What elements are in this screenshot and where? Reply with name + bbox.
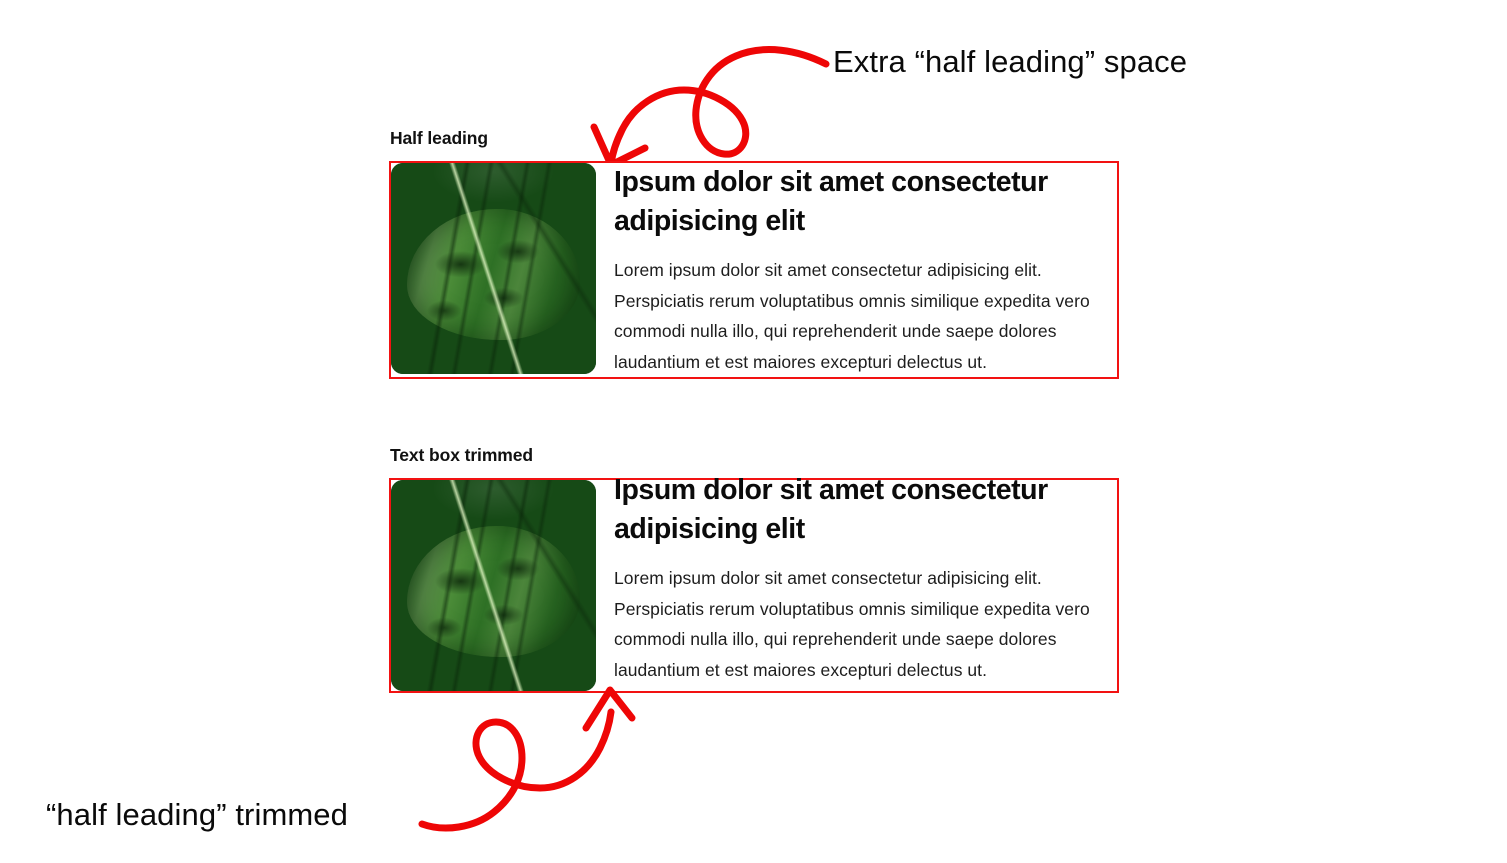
card-heading-text-box-trimmed: Ipsum dolor sit amet consectetur adipisi… — [614, 471, 1117, 549]
monstera-leaves-photo — [391, 480, 596, 691]
card-heading-half-leading: Ipsum dolor sit amet consectetur adipisi… — [614, 163, 1117, 241]
card-paragraph-text-box-trimmed: Lorem ipsum dolor sit amet consectetur a… — [614, 563, 1117, 685]
section-text-box-trimmed: Text box trimmed Ipsum dolor sit amet co… — [389, 444, 1119, 693]
card-paragraph-half-leading: Lorem ipsum dolor sit amet consectetur a… — [614, 255, 1117, 377]
card-half-leading: Ipsum dolor sit amet consectetur adipisi… — [389, 161, 1119, 379]
section-label-half-leading: Half leading — [390, 127, 1119, 149]
canvas: Extra “half leading” space Half leading … — [0, 0, 1507, 863]
card-text-half-leading: Ipsum dolor sit amet consectetur adipisi… — [596, 163, 1117, 377]
card-image-half-leading — [391, 163, 596, 374]
annotation-extra-half-leading-label: Extra “half leading” space — [833, 43, 1187, 82]
card-text-text-box-trimmed: Ipsum dolor sit amet consectetur adipisi… — [596, 471, 1117, 703]
card-image-text-box-trimmed — [391, 480, 596, 691]
section-half-leading: Half leading Ipsum dolor sit amet consec… — [389, 127, 1119, 379]
monstera-leaves-photo — [391, 163, 596, 374]
section-label-text-box-trimmed: Text box trimmed — [390, 444, 1119, 466]
annotation-half-leading-trimmed-label: “half leading” trimmed — [46, 796, 348, 835]
card-text-box-trimmed: Ipsum dolor sit amet consectetur adipisi… — [389, 478, 1119, 693]
